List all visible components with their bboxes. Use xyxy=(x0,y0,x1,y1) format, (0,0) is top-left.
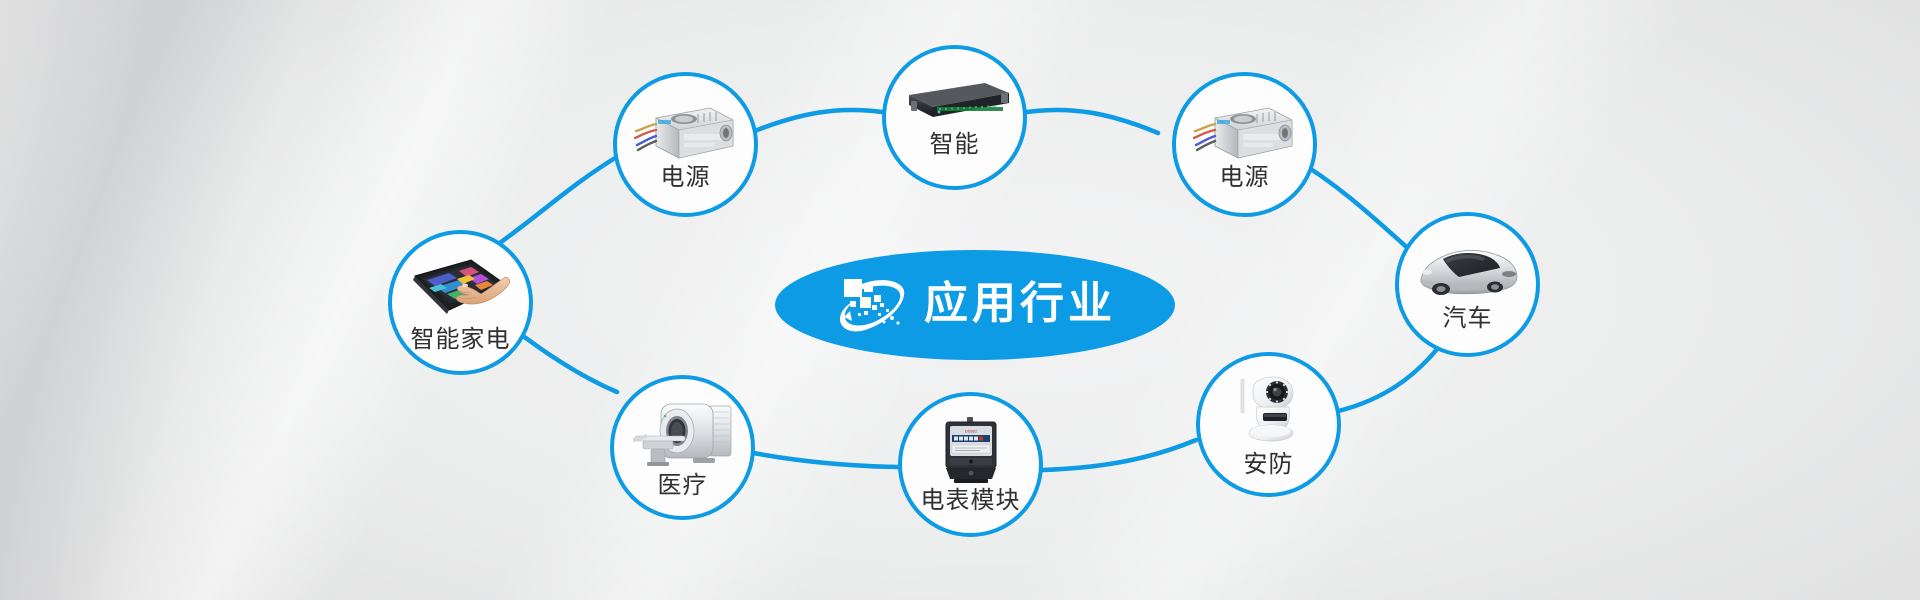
node-meter-module[interactable]: DD862 电表模块 xyxy=(898,392,1043,537)
node-label: 医疗 xyxy=(658,474,708,498)
node-smart-appliance[interactable]: 智能家电 xyxy=(388,230,533,375)
node-power-supply-left[interactable]: 电源 xyxy=(613,72,758,217)
connector-meter-module-to-medical xyxy=(748,452,898,467)
node-label: 智能家电 xyxy=(411,328,511,352)
car-icon xyxy=(1413,239,1523,303)
energy-meter-icon: DD862 xyxy=(940,417,1002,485)
badge-title: 应用行业 xyxy=(924,282,1116,329)
tablet-hand-icon xyxy=(409,254,513,324)
connector-automotive-to-security xyxy=(1330,348,1438,413)
connector-security-to-meter-module xyxy=(1042,440,1196,470)
node-power-supply-right[interactable]: 电源 xyxy=(1172,72,1317,217)
node-label: 智能 xyxy=(930,133,980,157)
node-label: 电源 xyxy=(661,166,711,190)
node-automotive[interactable]: 汽车 xyxy=(1395,212,1540,357)
rack-server-icon xyxy=(897,79,1013,123)
node-label: 安防 xyxy=(1244,453,1294,477)
connector-smart-appliance-to-power-supply-left xyxy=(490,155,620,250)
ip-camera-icon xyxy=(1233,373,1305,449)
node-label: 电表模块 xyxy=(921,489,1021,513)
svg-text:DD862: DD862 xyxy=(964,428,977,433)
connector-power-supply-left-to-smart xyxy=(752,110,882,132)
node-label: 汽车 xyxy=(1443,307,1493,331)
node-smart[interactable]: 智能 xyxy=(882,45,1027,190)
node-label: 电源 xyxy=(1220,166,1270,190)
node-medical[interactable]: 医疗 xyxy=(610,375,755,520)
psu-icon xyxy=(1193,100,1297,162)
node-security[interactable]: 安防 xyxy=(1196,352,1341,497)
connector-smart-to-power-supply-right xyxy=(1027,110,1158,133)
application-industries-diagram: 电源 xyxy=(0,0,1920,600)
mri-scanner-icon xyxy=(631,398,735,470)
pixel-orbit-logo-icon xyxy=(834,269,910,341)
psu-icon xyxy=(634,100,738,162)
center-badge[interactable]: 应用行业 xyxy=(775,250,1175,360)
